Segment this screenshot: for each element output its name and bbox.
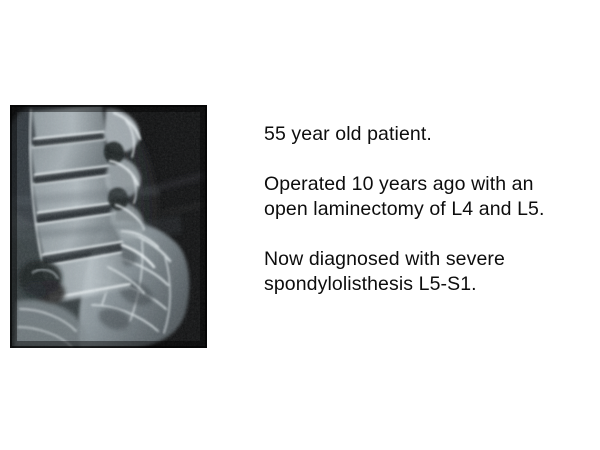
slide-canvas: 55 year old patient. Operated 10 years a…	[0, 0, 600, 450]
text-line: open laminectomy of L4 and L5.	[264, 197, 584, 222]
text-line: spondylolisthesis L5-S1.	[264, 272, 584, 297]
text-line: Operated 10 years ago with an	[264, 172, 584, 197]
paragraph-current-diagnosis: Now diagnosed with severe spondylolisthe…	[264, 247, 584, 297]
slide-text-block: 55 year old patient. Operated 10 years a…	[264, 122, 584, 297]
text-line: Now diagnosed with severe	[264, 247, 584, 272]
xray-illustration	[10, 105, 207, 348]
paragraph-surgical-history: Operated 10 years ago with an open lamin…	[264, 172, 584, 222]
lateral-lumbar-spine-xray-image	[10, 105, 207, 348]
paragraph-patient-age: 55 year old patient.	[264, 122, 584, 147]
text-line: 55 year old patient.	[264, 122, 584, 147]
